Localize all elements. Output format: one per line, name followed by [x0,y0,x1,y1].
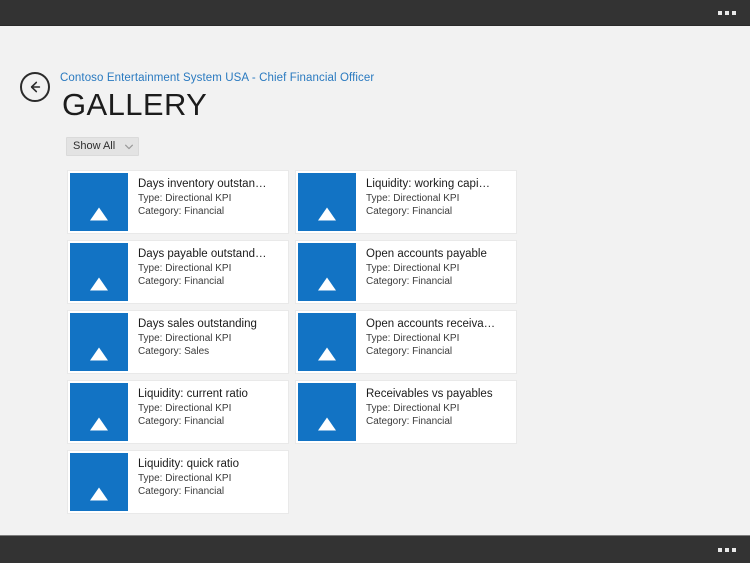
card-type: Type: Directional KPI [366,402,510,415]
card-body: Days sales outstandingType: Directional … [130,311,288,373]
directional-kpi-triangle-icon [88,416,110,432]
directional-kpi-triangle-icon [316,276,338,292]
page-header: Contoso Entertainment System USA - Chief… [0,36,750,116]
card-title: Receivables vs payables [366,387,510,401]
card-body: Liquidity: current ratioType: Directiona… [130,381,288,443]
card-category: Category: Financial [138,275,282,288]
card-title: Liquidity: working capi… [366,177,510,191]
gallery-card[interactable]: Open accounts payableType: Directional K… [296,241,516,303]
ellipsis-icon[interactable] [718,548,736,552]
card-body: Liquidity: quick ratioType: Directional … [130,451,288,513]
top-app-bar [0,0,750,26]
card-category: Category: Financial [366,345,510,358]
card-tile [298,173,356,231]
card-tile [70,173,128,231]
card-category: Category: Sales [138,345,282,358]
gallery-grid: Days inventory outstan…Type: Directional… [68,171,518,513]
gallery-card[interactable]: Liquidity: working capi…Type: Directiona… [296,171,516,233]
bottom-app-bar [0,535,750,563]
gallery-card[interactable]: Open accounts receiva…Type: Directional … [296,311,516,373]
filter-row: Show All [66,136,139,156]
card-title: Open accounts payable [366,247,510,261]
show-all-dropdown[interactable]: Show All [66,137,139,156]
gallery-card[interactable]: Liquidity: quick ratioType: Directional … [68,451,288,513]
directional-kpi-triangle-icon [88,206,110,222]
card-tile [70,383,128,441]
card-type: Type: Directional KPI [366,262,510,275]
gallery-card[interactable]: Liquidity: current ratioType: Directiona… [68,381,288,443]
card-title: Days payable outstand… [138,247,282,261]
card-title: Liquidity: current ratio [138,387,282,401]
chevron-down-icon [123,144,135,150]
card-body: Days inventory outstan…Type: Directional… [130,171,288,233]
card-category: Category: Financial [366,205,510,218]
gallery-card[interactable]: Receivables vs payablesType: Directional… [296,381,516,443]
card-tile [298,383,356,441]
card-category: Category: Financial [366,415,510,428]
directional-kpi-triangle-icon [88,486,110,502]
card-type: Type: Directional KPI [366,192,510,205]
card-category: Category: Financial [366,275,510,288]
card-category: Category: Financial [138,205,282,218]
page-content: Contoso Entertainment System USA - Chief… [0,26,750,535]
card-tile [70,243,128,301]
card-tile [70,313,128,371]
card-body: Open accounts receiva…Type: Directional … [358,311,516,373]
directional-kpi-triangle-icon [316,416,338,432]
directional-kpi-triangle-icon [316,206,338,222]
gallery-card[interactable]: Days payable outstand…Type: Directional … [68,241,288,303]
page-title: GALLERY [62,88,207,122]
card-body: Open accounts payableType: Directional K… [358,241,516,303]
app-window: Contoso Entertainment System USA - Chief… [0,0,750,563]
card-type: Type: Directional KPI [138,472,282,485]
ellipsis-icon[interactable] [718,11,736,15]
card-body: Liquidity: working capi…Type: Directiona… [358,171,516,233]
card-type: Type: Directional KPI [138,192,282,205]
card-body: Receivables vs payablesType: Directional… [358,381,516,443]
card-title: Days sales outstanding [138,317,282,331]
card-type: Type: Directional KPI [138,332,282,345]
back-arrow-icon [27,79,43,95]
gallery-card[interactable]: Days inventory outstan…Type: Directional… [68,171,288,233]
card-type: Type: Directional KPI [366,332,510,345]
card-tile [298,243,356,301]
card-title: Days inventory outstan… [138,177,282,191]
directional-kpi-triangle-icon [88,276,110,292]
card-title: Open accounts receiva… [366,317,510,331]
gallery-card[interactable]: Days sales outstandingType: Directional … [68,311,288,373]
directional-kpi-triangle-icon [88,346,110,362]
card-type: Type: Directional KPI [138,402,282,415]
directional-kpi-triangle-icon [316,346,338,362]
card-body: Days payable outstand…Type: Directional … [130,241,288,303]
card-category: Category: Financial [138,415,282,428]
back-button[interactable] [20,72,50,102]
card-tile [298,313,356,371]
card-title: Liquidity: quick ratio [138,457,282,471]
card-type: Type: Directional KPI [138,262,282,275]
card-category: Category: Financial [138,485,282,498]
show-all-dropdown-label: Show All [73,138,115,155]
breadcrumb[interactable]: Contoso Entertainment System USA - Chief… [60,72,374,84]
card-tile [70,453,128,511]
